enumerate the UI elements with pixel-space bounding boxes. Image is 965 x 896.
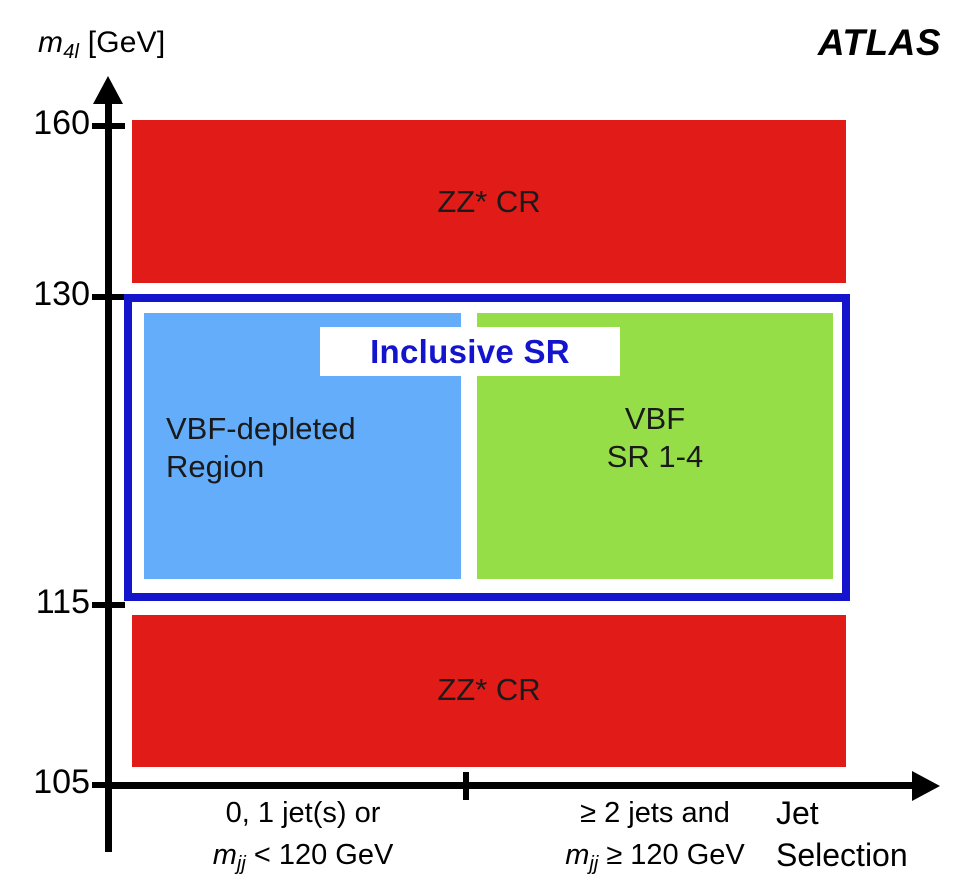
analysis-region-diagram: m4l [GeV] ATLAS 160 130 115 105 ZZ* CR Z…: [0, 0, 965, 896]
y-tick-mark-130: [92, 294, 125, 300]
x-category-right-line2: mjj ≥ 120 GeV: [490, 834, 820, 879]
x-category-left-variable: m: [213, 839, 237, 871]
x-category-right-line1: ≥ 2 jets and: [490, 792, 820, 834]
y-axis-title-variable: m: [38, 26, 63, 59]
x-category-right-relation: ≥ 120 GeV: [606, 839, 744, 871]
y-axis-title-subscript: 4l: [63, 41, 79, 63]
x-axis-line: [105, 782, 917, 789]
y-axis-title-unit: [GeV]: [88, 26, 166, 59]
inclusive-sr-label: Inclusive SR: [370, 333, 570, 371]
region-zz-control-region-low[interactable]: ZZ* CR: [132, 615, 846, 767]
y-tick-mark-160: [92, 123, 125, 129]
inclusive-sr-banner: Inclusive SR: [320, 327, 620, 376]
region-zz-control-region-high[interactable]: ZZ* CR: [132, 120, 846, 283]
x-category-right-variable: m: [565, 839, 589, 871]
x-category-right-subscript: jj: [589, 853, 598, 875]
x-category-left-line2: mjj < 120 GeV: [138, 834, 468, 879]
y-tick-mark-105: [92, 782, 125, 788]
x-category-label-right: ≥ 2 jets and mjj ≥ 120 GeV: [490, 792, 820, 879]
y-axis-arrow-icon: [93, 76, 123, 104]
region-label-zz-cr-low: ZZ* CR: [132, 671, 846, 709]
y-tick-label-115: 115: [24, 585, 90, 619]
region-label-zz-cr-high: ZZ* CR: [132, 183, 846, 221]
y-axis-title: m4l [GeV]: [38, 26, 165, 60]
atlas-label: ATLAS: [818, 22, 941, 64]
x-category-left-relation: < 120 GeV: [254, 839, 393, 871]
x-axis-title: Jet Selection: [776, 792, 962, 876]
region-label-vbf-depleted: VBF-depleted Region: [166, 410, 456, 486]
x-category-label-left: 0, 1 jet(s) or mjj < 120 GeV: [138, 792, 468, 879]
x-category-left-line1: 0, 1 jet(s) or: [138, 792, 468, 834]
x-category-left-subscript: jj: [237, 853, 246, 875]
y-tick-label-160: 160: [24, 106, 90, 140]
y-tick-mark-115: [92, 602, 125, 608]
region-label-vbf-sr: VBF SR 1-4: [477, 400, 833, 476]
y-tick-label-130: 130: [24, 277, 90, 311]
y-axis-line: [105, 96, 112, 852]
y-tick-label-105: 105: [24, 765, 90, 799]
